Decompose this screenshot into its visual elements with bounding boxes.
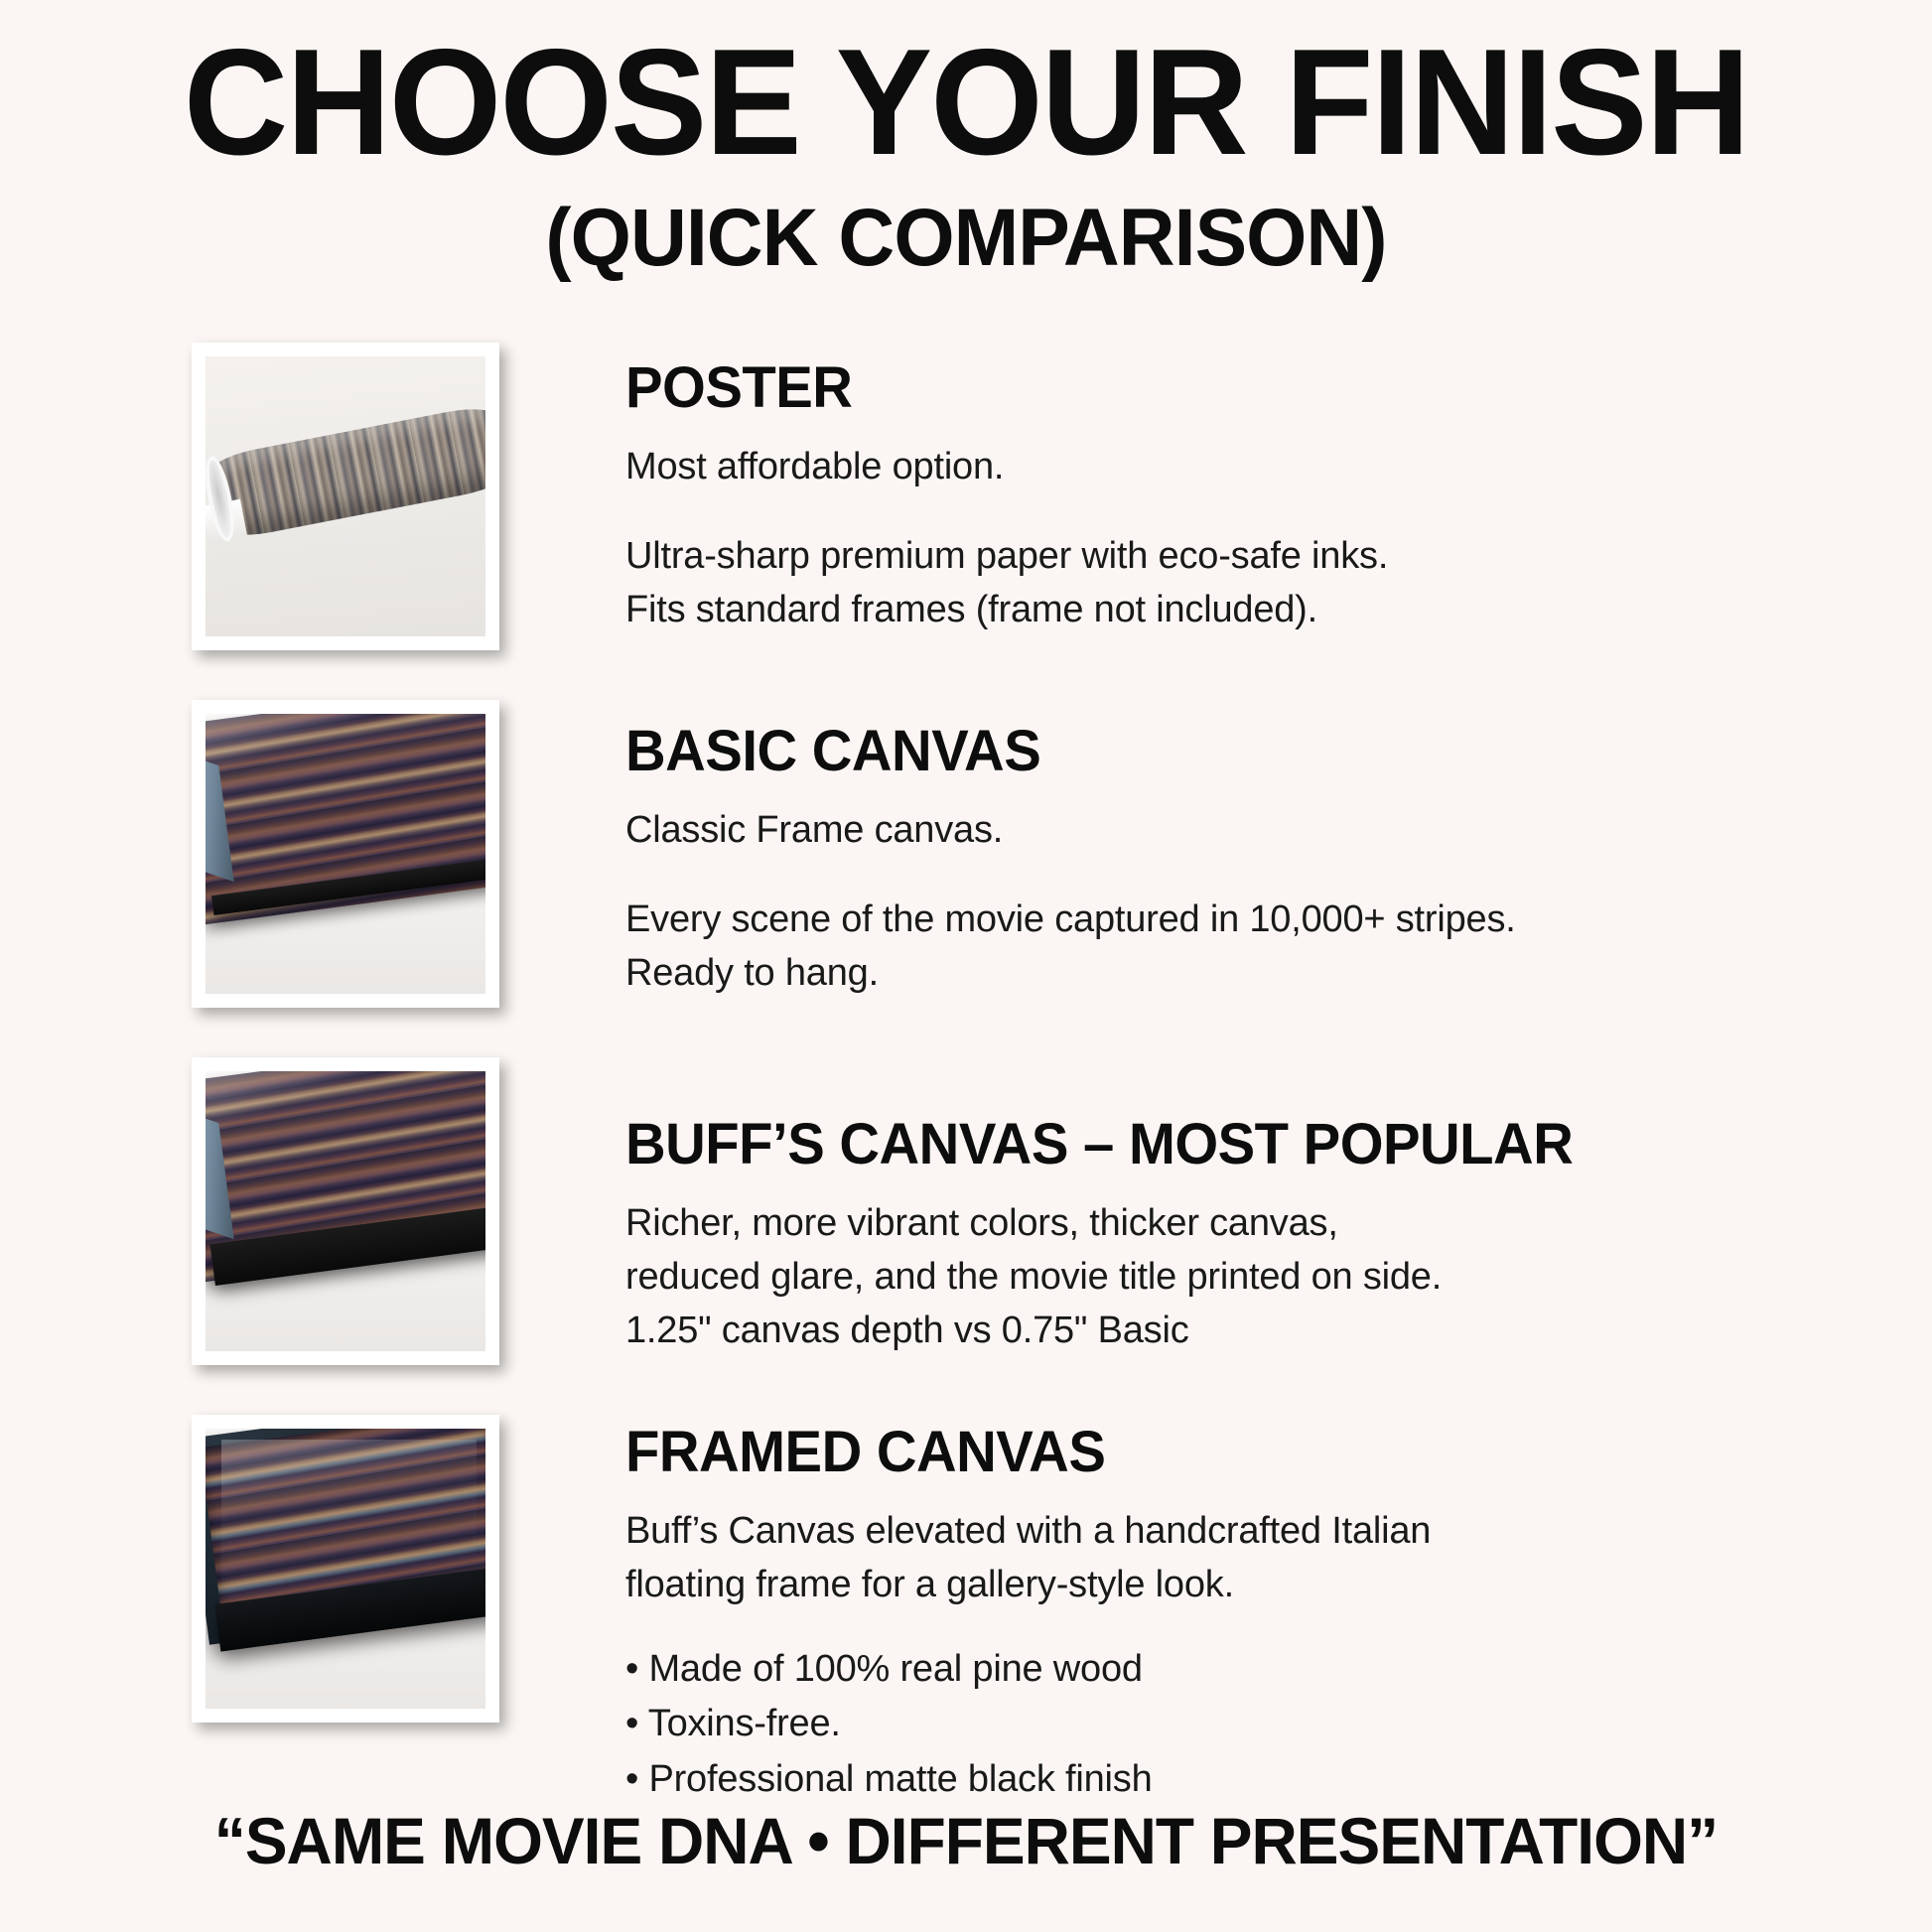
basic-canvas-copy: BASIC CANVAS Classic Frame canvas. Every…	[625, 722, 1847, 1001]
option-row-framed-canvas: FRAMED CANVAS Buff’s Canvas elevated wit…	[0, 1415, 1932, 1772]
option-title-buffs-canvas: BUFF’S CANVAS – MOST POPULAR	[625, 1115, 1810, 1175]
poster-detail-2: Fits standard frames (frame not included…	[625, 584, 1847, 637]
basic-canvas-detail-2: Ready to hang.	[625, 947, 1847, 1001]
header: CHOOSE YOUR FINISH (QUICK COMPARISON)	[0, 0, 1932, 283]
page-subtitle: (QUICK COMPARISON)	[39, 194, 1893, 283]
footer-tagline: “SAME MOVIE DNA • DIFFERENT PRESENTATION…	[29, 1803, 1903, 1878]
page-title: CHOOSE YOUR FINISH	[39, 26, 1893, 180]
buffs-canvas-thumbnail[interactable]	[192, 1057, 499, 1365]
basic-canvas-corner-photo	[206, 714, 485, 994]
basic-canvas-detail-1: Every scene of the movie captured in 10,…	[625, 894, 1847, 947]
framed-canvas-gloss	[221, 1440, 477, 1700]
options-list: POSTER Most affordable option. Ultra-sha…	[0, 343, 1932, 1772]
poster-copy: POSTER Most affordable option. Ultra-sha…	[625, 358, 1847, 637]
buffs-canvas-corner-photo	[206, 1071, 485, 1351]
framed-canvas-copy: FRAMED CANVAS Buff’s Canvas elevated wit…	[625, 1423, 1847, 1807]
poster-roll-shape	[208, 402, 485, 540]
framed-canvas-corner-photo	[206, 1429, 485, 1709]
framed-canvas-thumbnail[interactable]	[192, 1415, 499, 1723]
framed-canvas-bullets: • Made of 100% real pine wood • Toxins-f…	[625, 1642, 1847, 1807]
poster-lead: Most affordable option.	[625, 441, 1847, 494]
option-title-framed-canvas: FRAMED CANVAS	[625, 1423, 1810, 1483]
list-item: • Professional matte black finish	[625, 1752, 1847, 1807]
option-title-basic-canvas: BASIC CANVAS	[625, 722, 1810, 782]
option-row-poster: POSTER Most affordable option. Ultra-sha…	[0, 343, 1932, 700]
buffs-canvas-copy: BUFF’S CANVAS – MOST POPULAR Richer, mor…	[625, 1115, 1847, 1358]
list-item: • Toxins-free.	[625, 1697, 1847, 1751]
infographic-page: CHOOSE YOUR FINISH (QUICK COMPARISON) PO…	[0, 0, 1932, 1932]
poster-thumbnail[interactable]	[192, 343, 499, 650]
option-row-buffs-canvas: BUFF’S CANVAS – MOST POPULAR Richer, mor…	[0, 1057, 1932, 1415]
framed-canvas-detail-2: floating frame for a gallery-style look.	[625, 1559, 1847, 1612]
option-row-basic-canvas: BASIC CANVAS Classic Frame canvas. Every…	[0, 700, 1932, 1057]
buffs-canvas-detail-3: 1.25" canvas depth vs 0.75" Basic	[625, 1305, 1847, 1358]
framed-canvas-detail-1: Buff’s Canvas elevated with a handcrafte…	[625, 1505, 1847, 1559]
rolled-poster-photo	[206, 356, 485, 636]
basic-canvas-lead: Classic Frame canvas.	[625, 804, 1847, 858]
buffs-canvas-detail-2: reduced glare, and the movie title print…	[625, 1251, 1847, 1305]
list-item: • Made of 100% real pine wood	[625, 1642, 1847, 1697]
basic-canvas-thumbnail[interactable]	[192, 700, 499, 1008]
buffs-canvas-detail-1: Richer, more vibrant colors, thicker can…	[625, 1197, 1847, 1251]
poster-detail-1: Ultra-sharp premium paper with eco-safe …	[625, 530, 1847, 584]
option-title-poster: POSTER	[625, 358, 1810, 419]
